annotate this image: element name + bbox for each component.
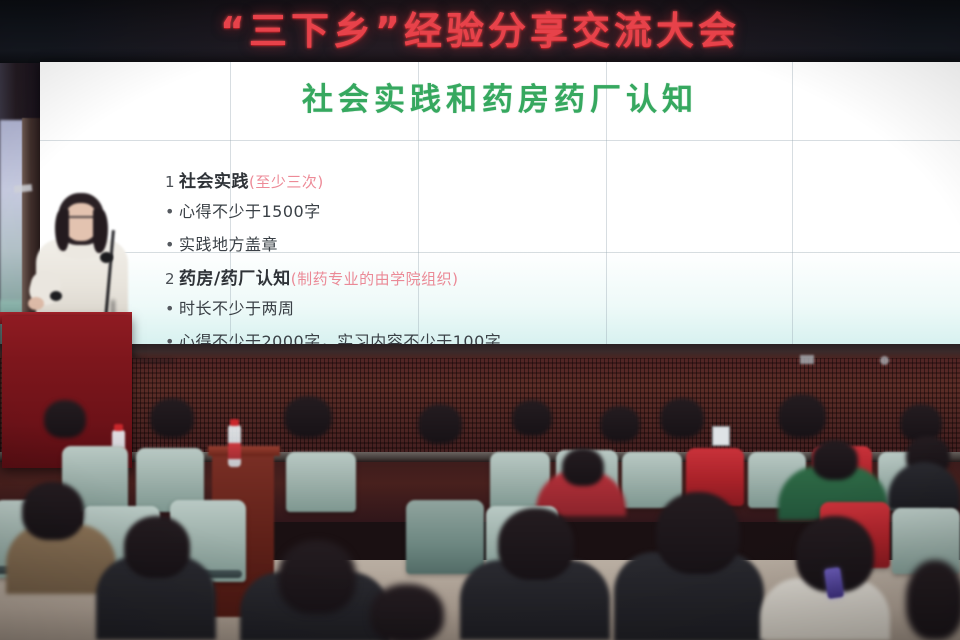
audience-head [124,516,190,578]
side-table-top [208,446,280,456]
audience-head [498,508,574,580]
audience-head [660,398,704,438]
event-banner: “三下乡”经验分享交流大会 [0,0,960,63]
audience-head [512,400,552,436]
audience-head [600,406,640,442]
slide-bullet: •实践地方盖章 [165,231,905,255]
bottle-cap [114,424,123,431]
presentation-screen: 社会实践和药房药厂认知 1社会实践(至少三次) •心得不少于1500字 •实践地… [40,62,960,344]
glasses-icon [65,216,96,225]
wall-plate-icon [800,355,814,364]
slide-section-index: 2 [165,270,175,288]
slide-bullet-text: 时长不少于两周 [179,299,295,318]
audience-head [812,440,858,480]
audience-head [278,540,356,614]
bullet-glyph: • [165,235,179,254]
slide-section-index: 1 [165,173,175,191]
audience-head [22,482,84,540]
slide-bullet-text: 实践地方盖章 [179,235,278,254]
slide-section-heading: 1社会实践(至少三次) [165,167,905,192]
slide-section-note: (制药专业的由学院组织) [291,270,459,288]
slide-body: 1社会实践(至少三次) •心得不少于1500字 •实践地方盖章 2药房/药厂认知… [165,167,905,344]
slide-title: 社会实践和药房药厂认知 [40,74,960,119]
speaker-hair-left [55,209,69,251]
audience-head [656,492,740,574]
wall-speaker-icon [880,356,889,365]
auditorium-seat [286,452,356,512]
slide-section-title: 药房/药厂认知 [179,269,291,289]
wall-switch-panel [712,426,730,446]
microphone-icon [100,252,113,263]
lecture-hall-photo: “三下乡”经验分享交流大会 社会实践和药房药厂认知 1社会实践(至少三次) •心… [0,0,960,640]
speaker-hand [28,297,44,310]
bottle-label [228,443,241,459]
slide-bullet: •时长不少于两周 [165,295,905,319]
slide-section-title: 社会实践 [179,172,249,192]
slide-bullet: •心得不少于1500字 [165,198,905,222]
screen-panel-seam [40,140,960,141]
audience-head [906,560,960,640]
slide-bullet: •心得不少于2000字，实习内容不少于100字 [165,328,905,344]
event-banner-title: “三下乡”经验分享交流大会 [0,2,960,60]
slide-bullet-text: 心得不少于2000字，实习内容不少于100字 [179,332,501,344]
audience-head [44,400,86,438]
audience-head [370,584,444,640]
bottle-cap [230,419,239,426]
slide-bullet-text: 心得不少于1500字 [179,202,321,221]
audience-head [150,398,194,438]
audience-head [562,448,604,486]
water-bottle [228,425,241,467]
audience-head [284,396,332,438]
bullet-glyph: • [165,202,179,221]
auditorium-seat [406,500,484,574]
audience-head [418,404,462,444]
handheld-microphone-icon [50,291,62,301]
slide-section-heading: 2药房/药厂认知(制药专业的由学院组织) [165,264,905,289]
slide-section-note: (至少三次) [249,173,324,191]
audience-head [778,394,826,438]
